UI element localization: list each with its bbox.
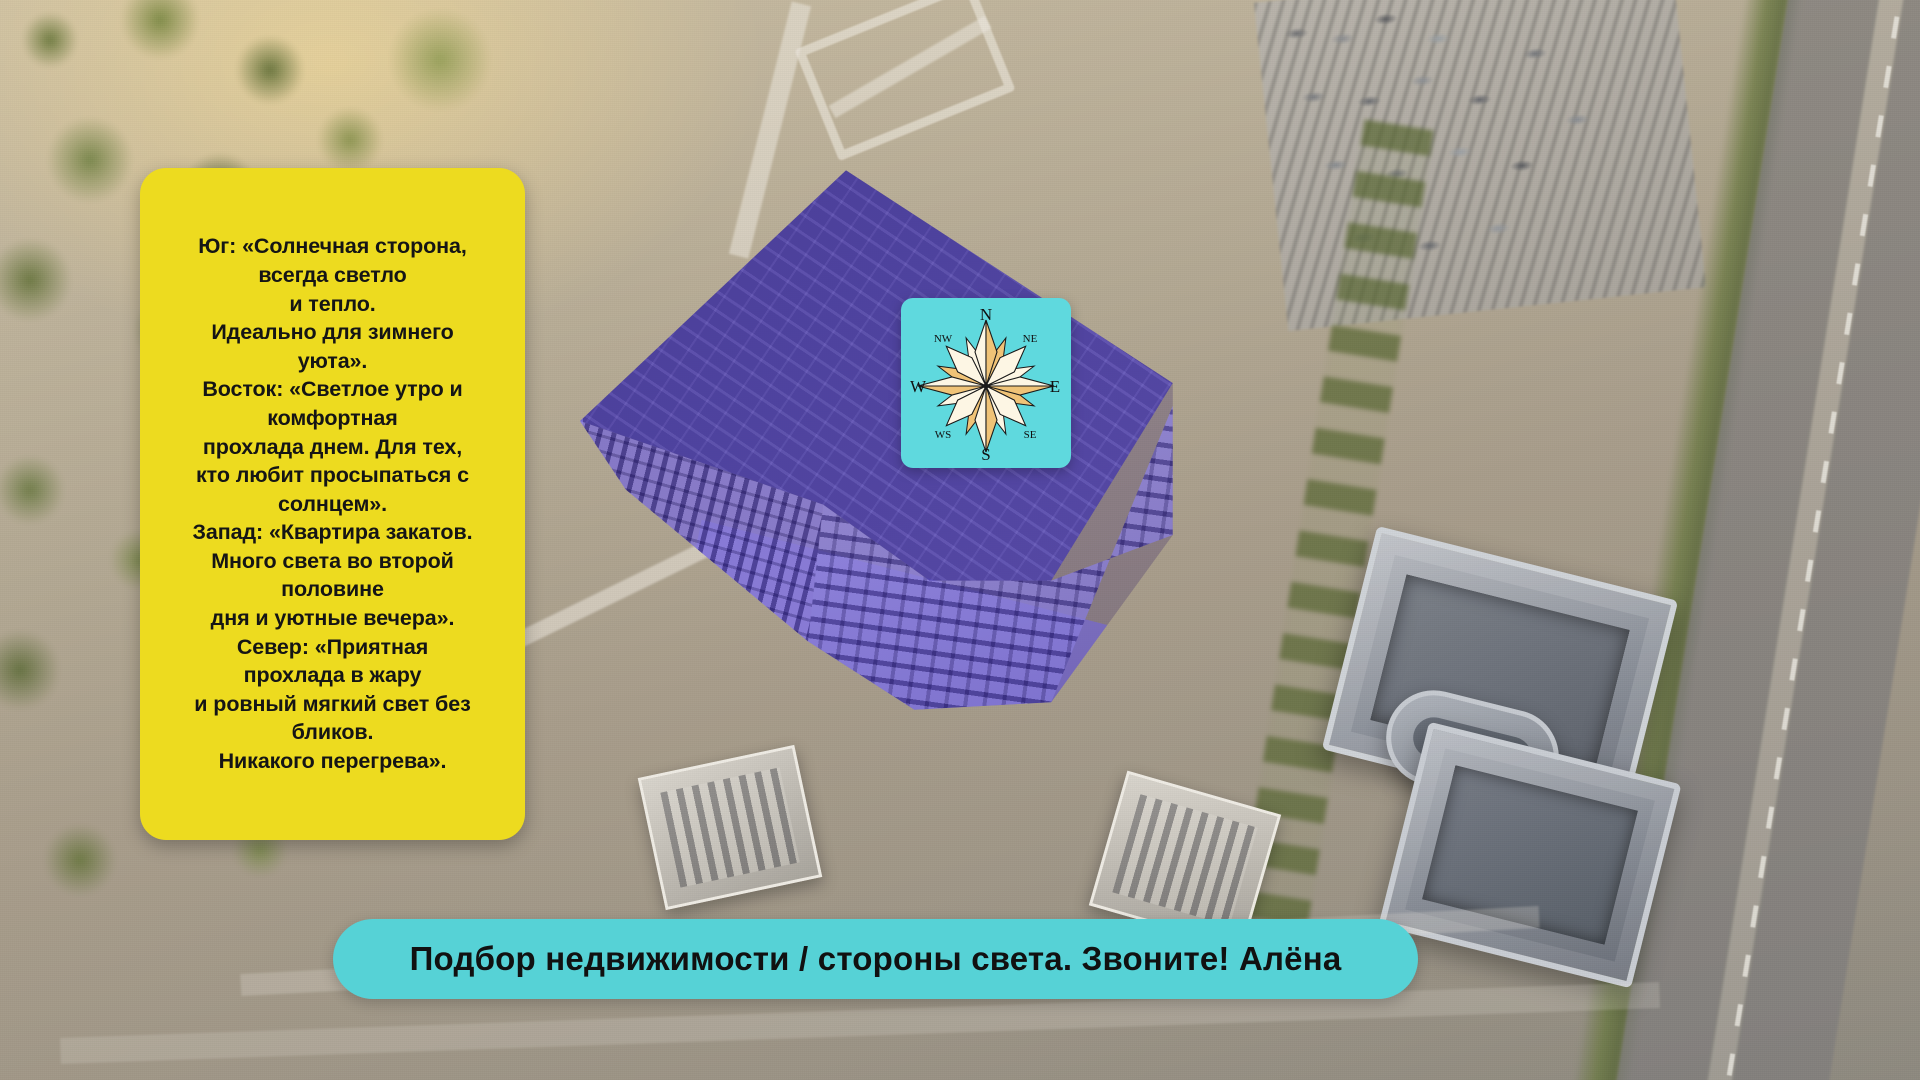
compass-card: N E S W NW NE WS SE	[901, 298, 1071, 468]
compass-label-east: E	[1050, 377, 1060, 396]
cta-banner[interactable]: Подбор недвижимости / стороны света. Зво…	[333, 919, 1418, 999]
poster-canvas: Юг: «Солнечная сторона, всегда светло и …	[0, 0, 1920, 1080]
compass-label-southwest: WS	[935, 429, 952, 441]
compass-label-northeast: NE	[1023, 333, 1038, 345]
orientation-info-card: Юг: «Солнечная сторона, всегда светло и …	[140, 168, 525, 840]
highlighted-tower	[580, 155, 1340, 915]
compass-label-northwest: NW	[934, 333, 953, 345]
compass-label-west: W	[910, 377, 927, 396]
compass-label-north: N	[980, 305, 992, 324]
compass-label-southeast: SE	[1024, 429, 1037, 441]
compass-rose-graphic: N E S W NW NE WS SE	[901, 298, 1071, 468]
orientation-info-text: Юг: «Солнечная сторона, всегда светло и …	[193, 232, 473, 775]
cta-banner-label: Подбор недвижимости / стороны света. Зво…	[410, 940, 1342, 978]
compass-label-south: S	[981, 445, 990, 464]
tower-outline	[580, 155, 1340, 915]
